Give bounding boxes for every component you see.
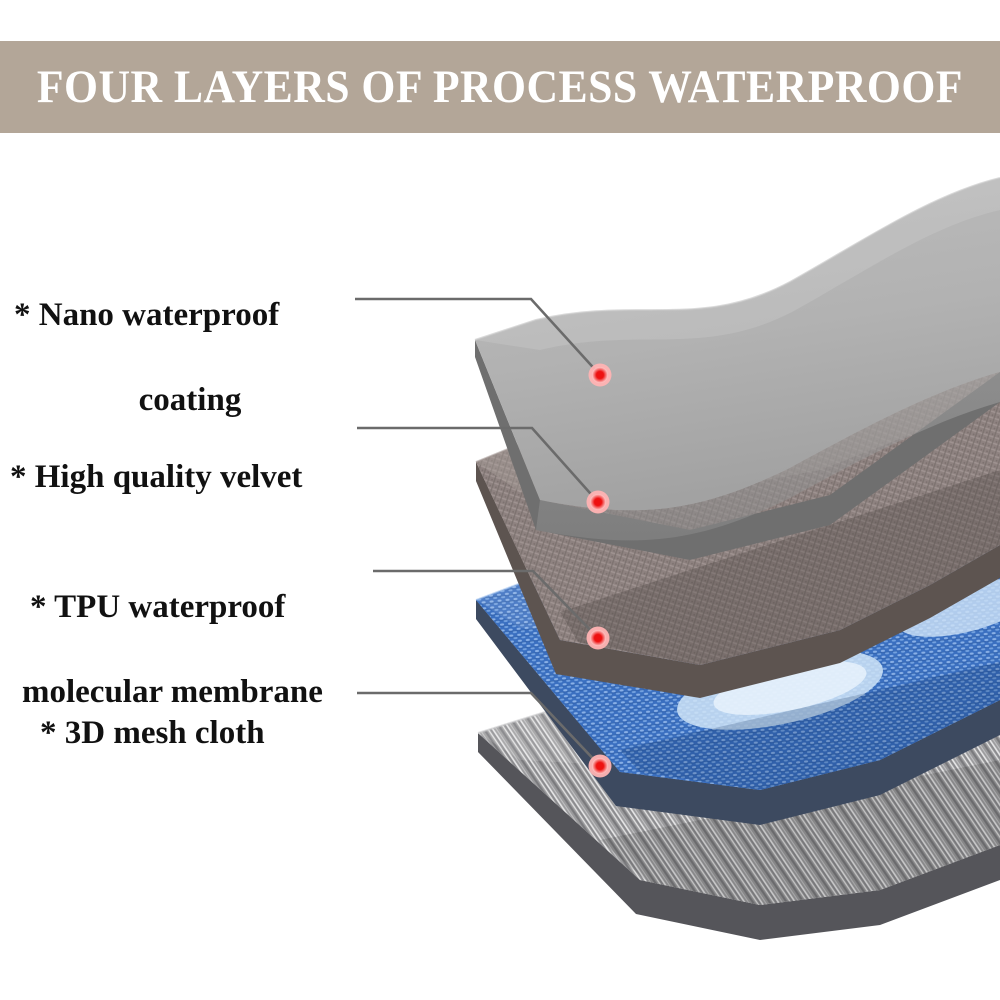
marker-nano	[589, 364, 612, 387]
marker-tpu	[587, 627, 610, 650]
label-high-quality-velvet: * High quality velvet	[10, 414, 370, 498]
bullet-star-icon: *	[40, 715, 57, 751]
label-velvet-line1: High quality velvet	[35, 459, 303, 495]
marker-mesh	[589, 755, 612, 778]
bullet-star-icon: *	[10, 459, 27, 495]
label-tpu-line1: TPU waterproof	[54, 589, 285, 625]
bullet-star-icon: *	[30, 589, 47, 625]
label-nano-line1: Nano waterproof	[39, 297, 279, 333]
label-3d-mesh-cloth: * 3D mesh cloth	[40, 670, 360, 754]
infographic-page: FOUR LAYERS OF PROCESS WATERPROOF	[0, 0, 1000, 1000]
bullet-star-icon: *	[14, 297, 31, 333]
marker-velvet	[587, 491, 610, 514]
label-mesh-line1: 3D mesh cloth	[65, 715, 265, 751]
layer-stack-illustration	[0, 0, 1000, 1000]
